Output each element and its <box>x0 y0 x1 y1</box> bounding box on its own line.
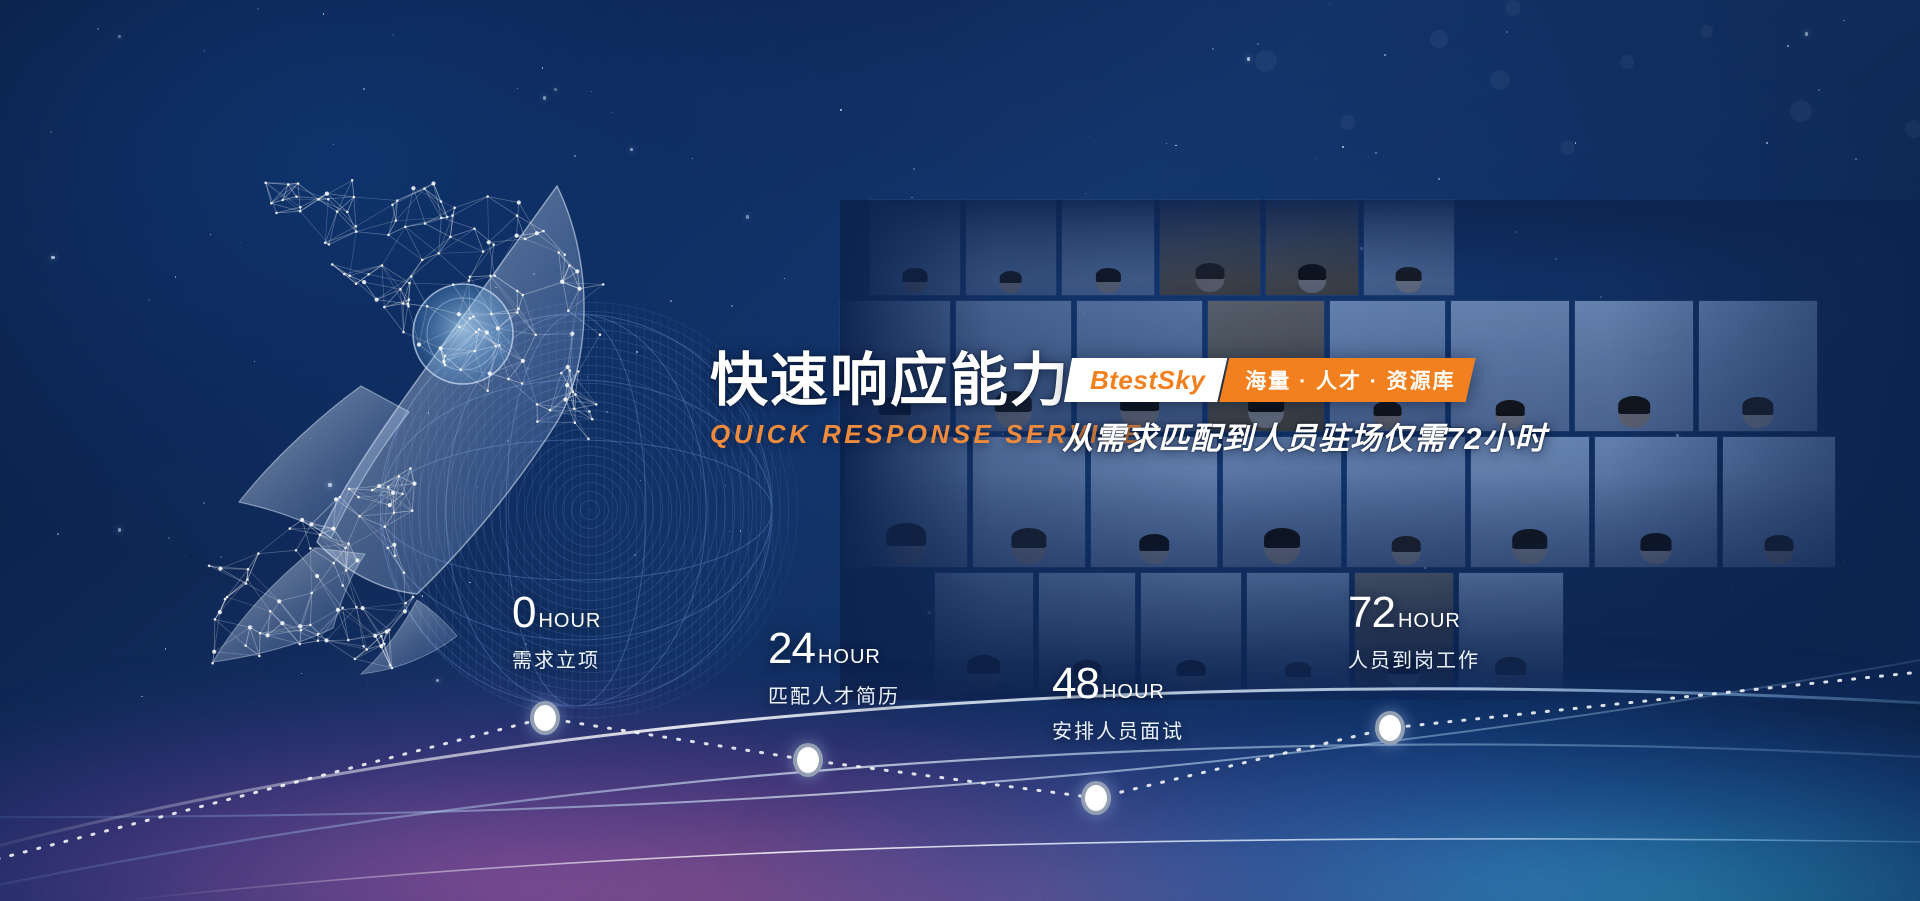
timeline-stop-unit: HOUR <box>818 646 881 669</box>
brand-tags-text: 海量 · 人才 · 资源库 <box>1245 365 1455 395</box>
photo-grid-cell <box>1595 437 1717 567</box>
photo-grid-cell <box>1062 200 1154 295</box>
photo-grid-row <box>870 200 1454 295</box>
person-silhouette-icon <box>1490 70 1510 92</box>
person-silhouette-icon <box>1560 140 1575 157</box>
person-silhouette-icon <box>1905 120 1920 140</box>
aurora-light-streaks <box>0 611 1920 901</box>
timeline-stop-value: 0 <box>512 592 535 634</box>
person-silhouette-icon <box>1340 115 1355 132</box>
photo-grid-cell <box>1160 200 1260 295</box>
person-silhouette-icon <box>1505 0 1521 18</box>
brand-badge-name: BtestSky <box>1064 358 1227 402</box>
timeline-stop-24: 24HOUR匹配人才简历 <box>768 628 900 709</box>
timeline-stop-value: 48 <box>1052 663 1099 705</box>
timeline-stop-desc: 匹配人才简历 <box>768 680 900 709</box>
timeline-stop-value: 24 <box>768 628 815 670</box>
timeline-stop-desc: 安排人员面试 <box>1052 715 1184 744</box>
aurora-arc-lines <box>0 611 1920 901</box>
timeline-stop-unit: HOUR <box>538 610 601 633</box>
person-silhouette-icon <box>1255 50 1277 75</box>
photo-grid-cell <box>1575 301 1693 431</box>
timeline-stop-72: 72HOUR人员到岗工作 <box>1348 592 1480 673</box>
timeline-node-48[interactable] <box>1081 781 1111 815</box>
photo-grid-cell <box>966 200 1056 295</box>
tagline: 从需求匹配到人员驻场仅需72小时 <box>1062 413 1546 458</box>
timeline-stop-desc: 人员到岗工作 <box>1348 644 1480 673</box>
timeline-stop-value: 72 <box>1348 592 1395 634</box>
person-silhouette-icon <box>1790 100 1812 125</box>
timeline-node-24[interactable] <box>793 743 823 777</box>
timeline-stop-48: 48HOUR安排人员面试 <box>1052 663 1184 744</box>
banner-stage: 快速响应能力 QUICK RESPONSE SERVICE BtestSky 海… <box>0 0 1920 901</box>
photo-grid-cell <box>845 437 967 567</box>
brand-badge-tags: 海量 · 人才 · 资源库 <box>1219 358 1475 402</box>
photo-grid-cell <box>1723 437 1835 567</box>
person-silhouette-icon <box>1620 55 1634 71</box>
photo-grid-cell <box>1364 200 1454 295</box>
photo-grid-cell <box>870 200 960 295</box>
timeline-stop-unit: HOUR <box>1102 681 1165 704</box>
timeline-stop-desc: 需求立项 <box>512 644 601 673</box>
timeline-node-72[interactable] <box>1375 711 1405 745</box>
timeline-node-0[interactable] <box>530 701 560 735</box>
brand-badge[interactable]: BtestSky 海量 · 人才 · 资源库 <box>1064 358 1476 402</box>
photo-grid-cell <box>1266 200 1358 295</box>
person-silhouette-icon <box>1430 30 1448 50</box>
brand-name-text: BtestSky <box>1090 365 1205 396</box>
timeline-stop-unit: HOUR <box>1398 610 1461 633</box>
photo-grid-cell <box>1699 301 1817 431</box>
timeline-stop-0: 0HOUR需求立项 <box>512 592 601 673</box>
person-silhouette-icon <box>1700 25 1713 40</box>
